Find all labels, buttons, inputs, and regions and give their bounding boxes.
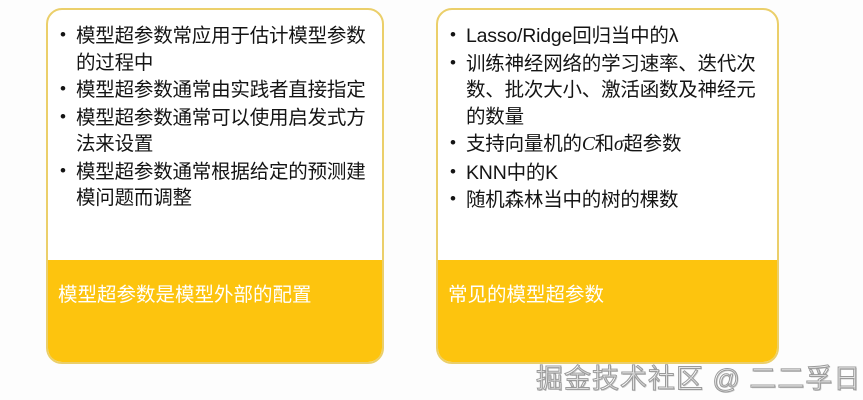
list-item: KNN中的K	[448, 160, 767, 187]
card-common-model-hyperparameters: Lasso/Ridge回归当中的λ 训练神经网络的学习速率、迭代次数、批次大小、…	[436, 8, 779, 364]
card-body-right: Lasso/Ridge回归当中的λ 训练神经网络的学习速率、迭代次数、批次大小、…	[438, 10, 777, 215]
list-item: 支持向量机的C和σ超参数	[448, 131, 767, 159]
bullet-list-left: 模型超参数常应用于估计模型参数的过程中 模型超参数通常由实践者直接指定 模型超参…	[58, 23, 372, 212]
math-symbol-sigma: σ	[614, 134, 623, 155]
list-item: 模型超参数常应用于估计模型参数的过程中	[58, 23, 372, 76]
card-footer-label: 模型超参数是模型外部的配置	[58, 282, 368, 308]
list-item: 模型超参数通常根据给定的预测建模问题而调整	[58, 159, 372, 212]
list-item-text: KNN中的K	[466, 162, 558, 184]
math-symbol-c: C	[582, 134, 595, 155]
list-item: 模型超参数通常由实践者直接指定	[58, 77, 372, 104]
card-footer-band-left: 模型超参数是模型外部的配置	[48, 260, 382, 362]
list-item-text: 训练神经网络的学习速率、迭代次数、批次大小、激活函数及神经元的数量	[466, 53, 756, 128]
list-item: 随机森林当中的树的棵数	[448, 187, 767, 214]
watermark-text: 掘金技术社区 @ 二二孚日	[536, 362, 861, 396]
list-item-text: Lasso/Ridge回归当中的λ	[466, 25, 678, 47]
list-item-text-suffix: 超参数	[623, 133, 681, 155]
list-item: 训练神经网络的学习速率、迭代次数、批次大小、激活函数及神经元的数量	[448, 51, 767, 131]
list-item: 模型超参数通常可以使用启发式方法来设置	[58, 105, 372, 158]
bullet-list-right: Lasso/Ridge回归当中的λ 训练神经网络的学习速率、迭代次数、批次大小、…	[448, 23, 767, 214]
slide-canvas: 模型超参数常应用于估计模型参数的过程中 模型超参数通常由实践者直接指定 模型超参…	[0, 0, 863, 400]
card-footer-band-right: 常见的模型超参数	[438, 260, 777, 362]
list-item: Lasso/Ridge回归当中的λ	[448, 23, 767, 50]
card-model-hyperparameters-definition: 模型超参数常应用于估计模型参数的过程中 模型超参数通常由实践者直接指定 模型超参…	[46, 8, 384, 364]
list-item-text: 随机森林当中的树的棵数	[466, 189, 678, 211]
list-item-text: 支持向量机的	[466, 133, 582, 155]
card-body-left: 模型超参数常应用于估计模型参数的过程中 模型超参数通常由实践者直接指定 模型超参…	[48, 10, 382, 213]
card-footer-label: 常见的模型超参数	[448, 282, 763, 308]
list-item-text-mid: 和	[595, 133, 614, 155]
